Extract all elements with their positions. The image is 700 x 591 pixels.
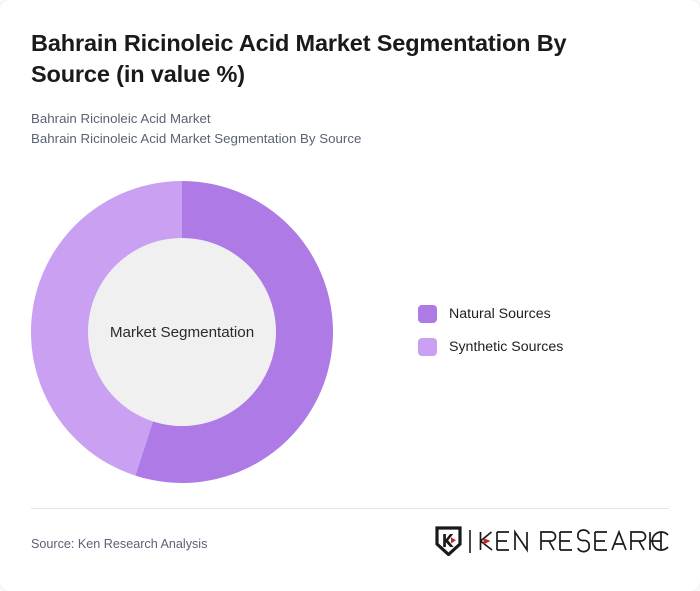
- chart-area: Market Segmentation Natural Sources Synt…: [0, 160, 700, 500]
- donut-hole-overlay: [88, 238, 276, 426]
- legend-label-synthetic-sources: Synthetic Sources: [449, 339, 563, 355]
- donut-chart-svg: [31, 181, 333, 483]
- logo-divider: [469, 530, 471, 553]
- donut-chart: Market Segmentation: [31, 181, 333, 483]
- source-attribution: Source: Ken Research Analysis: [31, 537, 207, 551]
- subtitle-line-market: Bahrain Ricinoleic Acid Market: [31, 109, 631, 130]
- subtitle-line-segmentation: Bahrain Ricinoleic Acid Market Segmentat…: [31, 129, 631, 150]
- legend-item-natural-sources[interactable]: Natural Sources: [418, 305, 563, 323]
- legend-swatch-icon-synthetic-sources: [418, 338, 437, 356]
- page-title: Bahrain Ricinoleic Acid Market Segmentat…: [31, 28, 631, 91]
- chart-header: Bahrain Ricinoleic Acid Market Segmentat…: [31, 28, 631, 150]
- chart-card: Bahrain Ricinoleic Acid Market Segmentat…: [0, 0, 700, 591]
- chart-legend: Natural Sources Synthetic Sources: [418, 305, 563, 356]
- footer-divider: [31, 508, 669, 509]
- legend-swatch-icon-natural-sources: [418, 305, 437, 323]
- shield-logo-icon: [435, 526, 462, 556]
- ken-research-wordmark: [478, 528, 671, 554]
- ken-research-logo: [435, 524, 671, 558]
- legend-label-natural-sources: Natural Sources: [449, 306, 551, 322]
- legend-item-synthetic-sources[interactable]: Synthetic Sources: [418, 338, 563, 356]
- subtitle-block: Bahrain Ricinoleic Acid Market Bahrain R…: [31, 109, 631, 150]
